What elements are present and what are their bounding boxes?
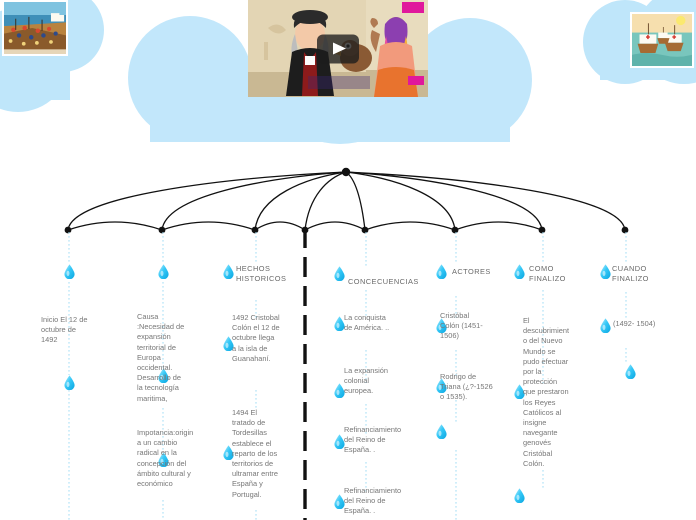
- branch-item-label: Causa :Necesidad de expansión territoria…: [137, 312, 184, 404]
- branch-spoke: [346, 172, 542, 230]
- branch-item-label: La expansión colonial europea.: [344, 366, 388, 397]
- branch-node: [302, 227, 309, 234]
- branch-item-branch-6-1[interactable]: Rodrigo de Triana (¿?-1526 o 1535).: [440, 372, 493, 403]
- branch-item-label: (1492- 1504): [613, 319, 655, 329]
- branch-item-branch-2-0[interactable]: Causa :Necesidad de expansión territoria…: [137, 312, 184, 404]
- branch-item-branch-8-0[interactable]: (1492- 1504): [613, 319, 655, 329]
- water-droplet-icon: [514, 488, 525, 503]
- canopy-arc: [162, 222, 255, 230]
- youtube-video-thumbnail[interactable]: [248, 0, 428, 97]
- branch-spoke: [255, 172, 346, 230]
- branch-node: [622, 227, 629, 234]
- branch-item-branch-2-1[interactable]: Impotancia:origin a un cambio radical en…: [137, 428, 193, 489]
- water-droplet-icon: [64, 264, 75, 279]
- branch-item-branch-3-1[interactable]: 1494 El tratado de Tordesillas establece…: [232, 408, 278, 500]
- branch-header-branch-6[interactable]: ACTORES: [448, 267, 491, 277]
- play-icon[interactable]: [317, 34, 359, 63]
- branch-header-branch-3[interactable]: HECHOS HISTORICOS: [232, 264, 286, 284]
- branch-item-label: La conquista de América. ..: [344, 313, 389, 333]
- branch-item-branch-5-1[interactable]: La expansión colonial europea.: [344, 366, 388, 397]
- canopy-arc: [305, 222, 365, 230]
- water-droplet-icon: [625, 364, 636, 379]
- branch-spoke: [346, 172, 455, 230]
- branch-spoke: [305, 172, 346, 230]
- water-droplet-icon: [436, 264, 447, 279]
- caravel-ships-illustration[interactable]: [630, 12, 694, 68]
- branch-item-branch-5-0[interactable]: La conquista de América. ..: [344, 313, 389, 333]
- branch-item-label: Impotancia:origin a un cambio radical en…: [137, 428, 193, 489]
- canopy-arc: [455, 222, 542, 230]
- canopy-arc: [68, 222, 162, 230]
- branch-header-label: ACTORES: [448, 267, 491, 277]
- branch-node: [159, 227, 166, 234]
- branch-item-branch-1-0[interactable]: Inicio El 12 de octubre de 1492: [41, 315, 87, 346]
- branch-item-label: Refinanciamiento del Reino de España. .: [344, 425, 401, 456]
- branch-item-label: 1494 El tratado de Tordesillas establece…: [232, 408, 278, 500]
- branch-header-branch-8[interactable]: CUANDO FINALIZO: [608, 264, 649, 284]
- branch-item-label: Refinanciamiento del Reino de España. .: [344, 486, 401, 517]
- branch-node: [452, 227, 459, 234]
- branch-spoke: [162, 172, 346, 230]
- water-droplet-icon: [600, 318, 611, 333]
- branch-item-branch-6-0[interactable]: Cristóbal Colón (1451- 1506): [440, 311, 483, 342]
- branch-header-branch-7[interactable]: COMO FINALIZO: [525, 264, 566, 284]
- branch-spoke: [346, 172, 365, 230]
- branch-header-branch-5[interactable]: CONCECUENCIAS: [344, 277, 419, 287]
- branch-item-label: El descubrimient o del Nuevo Mundo se pu…: [523, 316, 569, 469]
- central-hub-node: [342, 168, 350, 176]
- colonial-landing-painting[interactable]: [2, 0, 68, 56]
- branch-header-label: COMO FINALIZO: [525, 264, 566, 284]
- water-droplet-icon: [158, 264, 169, 279]
- branch-header-label: HECHOS HISTORICOS: [232, 264, 286, 284]
- branch-header-label: CONCECUENCIAS: [344, 277, 419, 287]
- canopy-arc: [255, 222, 305, 230]
- branch-spoke: [68, 172, 346, 230]
- branch-item-label: Cristóbal Colón (1451- 1506): [440, 311, 483, 342]
- branch-item-branch-5-2[interactable]: Refinanciamiento del Reino de España. .: [344, 425, 401, 456]
- water-droplet-icon: [436, 424, 447, 439]
- branch-item-branch-5-3[interactable]: Refinanciamiento del Reino de España. .: [344, 486, 401, 517]
- branch-node: [65, 227, 72, 234]
- branch-node: [539, 227, 546, 234]
- branch-item-label: Inicio El 12 de octubre de 1492: [41, 315, 87, 346]
- branch-spoke: [346, 172, 625, 230]
- branch-item-branch-3-0[interactable]: 1492 Cristobal Colón el 12 de octubre ll…: [232, 313, 280, 364]
- branch-item-branch-7-0[interactable]: El descubrimient o del Nuevo Mundo se pu…: [523, 316, 569, 469]
- canopy-arc: [365, 222, 455, 230]
- branch-item-label: 1492 Cristobal Colón el 12 de octubre ll…: [232, 313, 280, 364]
- branch-item-label: Rodrigo de Triana (¿?-1526 o 1535).: [440, 372, 493, 403]
- water-droplet-icon: [514, 264, 525, 279]
- branch-header-label: CUANDO FINALIZO: [608, 264, 649, 284]
- branch-node: [252, 227, 259, 234]
- water-droplet-icon: [64, 375, 75, 390]
- branch-node: [362, 227, 369, 234]
